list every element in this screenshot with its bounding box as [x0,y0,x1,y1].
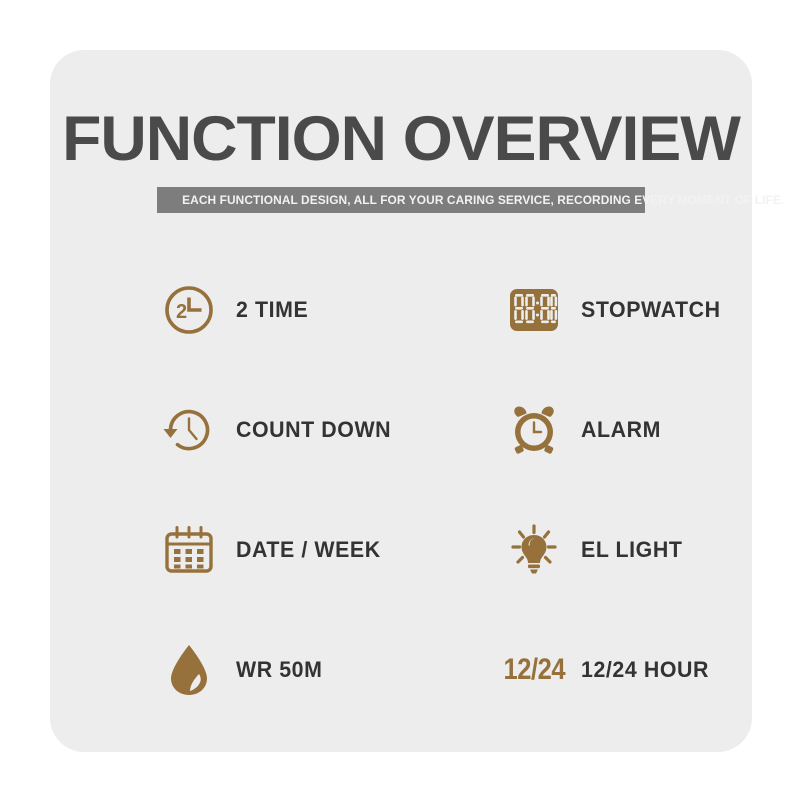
12-24-text-icon: 12/24 [505,641,563,699]
feature-item-12-24-hour[interactable]: 12/24 12/24 HOUR [401,610,752,730]
card-header: FUNCTION OVERVIEW EACH FUNCTIONAL DESIGN… [50,50,752,213]
feature-item-stopwatch[interactable]: STOPWATCH [401,250,752,370]
feature-item-wr-50m[interactable]: WR 50M [50,610,401,730]
feature-label: ALARM [581,417,661,443]
alarm-clock-icon [505,401,563,459]
svg-text:2: 2 [176,301,187,323]
feature-label: 12/24 HOUR [581,657,709,683]
page-title: FUNCTION OVERVIEW [43,50,759,171]
stopwatch-digital-display-icon [505,281,563,339]
calendar-icon [160,521,218,579]
feature-grid: 2 2 TIME [50,250,752,730]
two-time-clock-icon: 2 [160,281,218,339]
12-24-text-icon-label: 12/24 [503,655,565,685]
feature-label: EL LIGHT [581,537,682,563]
feature-label: WR 50M [236,657,322,683]
feature-label: DATE / WEEK [236,537,381,563]
subtitle-text: EACH FUNCTIONAL DESIGN, ALL FOR YOUR CAR… [182,193,620,207]
page-root: FUNCTION OVERVIEW EACH FUNCTIONAL DESIGN… [0,0,800,800]
water-droplet-icon [160,641,218,699]
feature-label: STOPWATCH [581,297,721,323]
feature-label: 2 TIME [236,297,308,323]
feature-item-count-down[interactable]: COUNT DOWN [50,370,401,490]
countdown-clock-arrow-icon [160,401,218,459]
feature-item-date-week[interactable]: DATE / WEEK [50,490,401,610]
feature-item-alarm[interactable]: ALARM [401,370,752,490]
lightbulb-icon [505,521,563,579]
feature-label: COUNT DOWN [236,417,391,443]
feature-item-el-light[interactable]: EL LIGHT [401,490,752,610]
function-overview-card: FUNCTION OVERVIEW EACH FUNCTIONAL DESIGN… [50,50,752,752]
feature-item-2-time[interactable]: 2 2 TIME [50,250,401,370]
subtitle-banner: EACH FUNCTIONAL DESIGN, ALL FOR YOUR CAR… [157,187,645,213]
